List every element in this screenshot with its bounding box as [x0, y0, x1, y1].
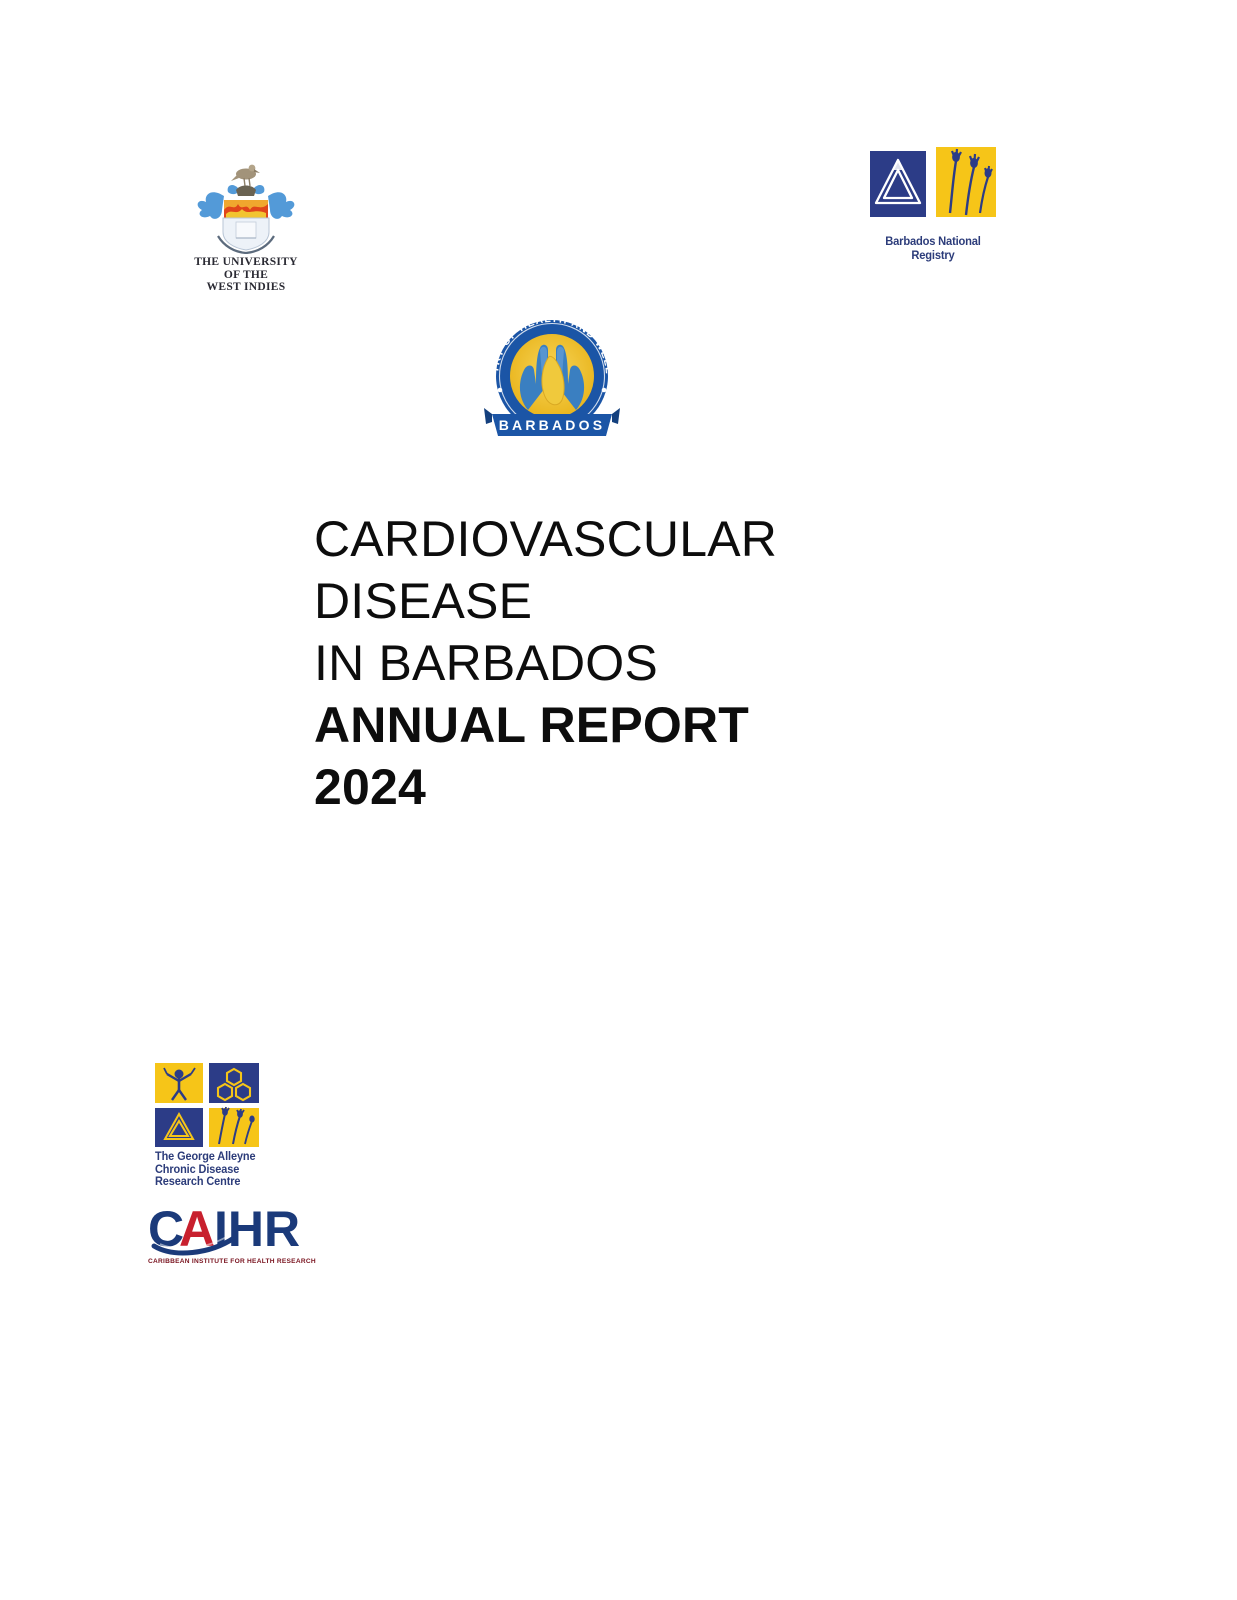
- uwi-logo-text: THE UNIVERSITY OF THE WEST INDIES: [176, 256, 316, 294]
- title-line-1: CARDIOVASCULAR: [314, 508, 1074, 570]
- title-line-2: DISEASE: [314, 570, 1074, 632]
- caihr-logo: C A IHR CARIBBEAN INSTITUTE FOR HEALTH R…: [148, 1202, 333, 1265]
- moh-banner-text: BARBADOS: [499, 417, 606, 433]
- uwi-text-line-3: WEST INDIES: [176, 281, 316, 294]
- uwi-crest-icon: [176, 158, 316, 254]
- caihr-letters-ihr: IHR: [214, 1202, 300, 1257]
- bnr-logo: Barbados National Registry: [858, 143, 1008, 262]
- page-title: CARDIOVASCULAR DISEASE IN BARBADOS ANNUA…: [314, 508, 1074, 818]
- gacdrc-text-line-2: Chronic Disease: [155, 1164, 326, 1177]
- ministry-of-health-seal-icon: MINISTRY OF HEALTH AND WELLNESS BARBAD: [478, 302, 626, 444]
- gacdrc-text-line-1: The George Alleyne: [155, 1151, 326, 1164]
- title-line-5: 2024: [314, 756, 1074, 818]
- bnr-caption: Barbados National Registry: [863, 234, 1003, 262]
- gacdrc-logo: The George Alleyne Chronic Disease Resea…: [155, 1063, 335, 1189]
- gacdrc-text-line-3: Research Centre: [155, 1176, 326, 1189]
- uwi-text-line-2: OF THE: [176, 269, 316, 282]
- uwi-text-line-1: THE UNIVERSITY: [176, 256, 316, 269]
- uwi-logo: THE UNIVERSITY OF THE WEST INDIES: [176, 158, 316, 294]
- barbados-national-registry-icon: [858, 143, 1008, 231]
- report-cover-page: THE UNIVERSITY OF THE WEST INDIES: [0, 0, 1237, 1600]
- title-line-4: ANNUAL REPORT: [314, 694, 1074, 756]
- caihr-wordmark-icon: C A IHR: [148, 1202, 320, 1258]
- moh-logo: MINISTRY OF HEALTH AND WELLNESS BARBAD: [478, 302, 626, 444]
- george-alleyne-cdrc-icon: [155, 1063, 259, 1147]
- title-line-3: IN BARBADOS: [314, 632, 1074, 694]
- caihr-tagline: CARIBBEAN INSTITUTE FOR HEALTH RESEARCH: [148, 1258, 333, 1265]
- gacdrc-logo-text: The George Alleyne Chronic Disease Resea…: [155, 1151, 326, 1189]
